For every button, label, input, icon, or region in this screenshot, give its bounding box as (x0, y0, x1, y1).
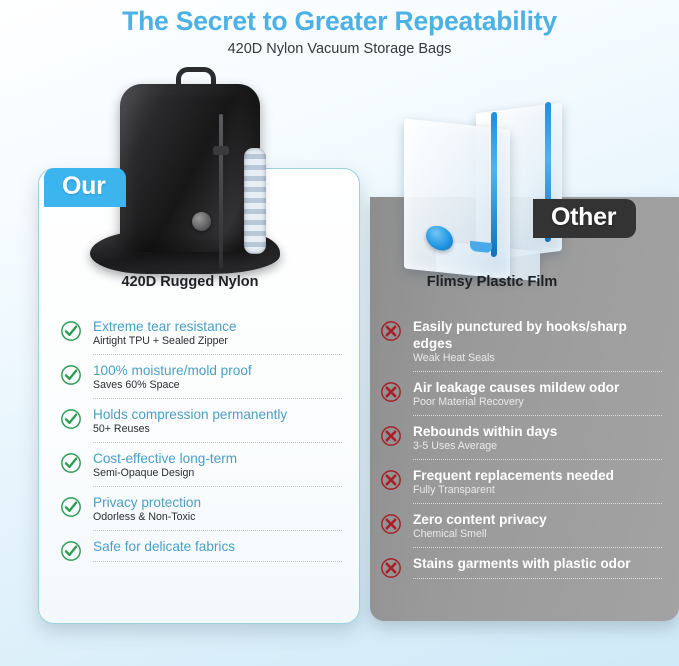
feature-sub-text: Semi-Opaque Design (93, 467, 342, 480)
divider (93, 530, 342, 531)
feature-main-text: Easily punctured by hooks/sharp edges (413, 318, 662, 352)
feature-sub-text: Saves 60% Space (93, 379, 342, 392)
feature-sub-text: Poor Material Recovery (413, 396, 662, 409)
page-subtitle: 420D Nylon Vacuum Storage Bags (0, 39, 679, 59)
our-feature-list: Extreme tear resistance Airtight TPU + S… (60, 318, 342, 578)
check-circle-icon (60, 320, 82, 342)
bag-valve-icon (192, 212, 211, 231)
list-item: Frequent replacements needed Fully Trans… (380, 467, 662, 504)
bag-window-panel (244, 148, 266, 254)
divider (93, 398, 342, 399)
feature-sub-text: Weak Heat Seals (413, 352, 662, 365)
check-circle-icon (60, 540, 82, 562)
x-circle-icon (380, 381, 402, 403)
plastic-bag-image (398, 96, 588, 281)
check-circle-icon (60, 364, 82, 386)
x-circle-icon (380, 425, 402, 447)
bag-zipper-pull-icon (213, 146, 229, 155)
feature-main-text: Frequent replacements needed (413, 467, 662, 484)
feature-main-text: Privacy protection (93, 494, 342, 511)
header: The Secret to Greater Repeatability 420D… (0, 0, 679, 59)
divider (413, 415, 662, 416)
feature-main-text: Stains garments with plastic odor (413, 555, 662, 572)
list-item: Air leakage causes mildew odor Poor Mate… (380, 379, 662, 416)
check-circle-icon (60, 496, 82, 518)
x-circle-icon (380, 469, 402, 491)
plastic-zipper-icon-1 (491, 112, 497, 258)
divider (93, 354, 342, 355)
list-item: Easily punctured by hooks/sharp edges We… (380, 318, 662, 372)
feature-sub-text: 50+ Reuses (93, 423, 342, 436)
feature-sub-text: Airtight TPU + Sealed Zipper (93, 335, 342, 348)
list-item: Holds compression permanently 50+ Reuses (60, 406, 342, 443)
divider (413, 371, 662, 372)
divider (93, 486, 342, 487)
divider (413, 547, 662, 548)
list-item: Extreme tear resistance Airtight TPU + S… (60, 318, 342, 355)
feature-sub-text: Odorless & Non-Toxic (93, 511, 342, 524)
feature-main-text: Cost-effective long-term (93, 450, 342, 467)
list-item: 100% moisture/mold proof Saves 60% Space (60, 362, 342, 399)
feature-main-text: 100% moisture/mold proof (93, 362, 342, 379)
other-product-caption: Flimsy Plastic Film (362, 274, 622, 290)
list-item: Cost-effective long-term Semi-Opaque Des… (60, 450, 342, 487)
feature-main-text: Holds compression permanently (93, 406, 342, 423)
other-feature-list: Easily punctured by hooks/sharp edges We… (380, 318, 662, 595)
list-item: Zero content privacy Chemical Smell (380, 511, 662, 548)
feature-sub-text: Fully Transparent (413, 484, 662, 497)
bag-body-shape (120, 84, 260, 252)
our-product-caption: 420D Rugged Nylon (60, 274, 320, 290)
feature-sub-text: 3-5 Uses Average (413, 440, 662, 453)
page-title: The Secret to Greater Repeatability (0, 4, 679, 38)
list-item: Privacy protection Odorless & Non-Toxic (60, 494, 342, 531)
feature-sub-text: Chemical Smell (413, 528, 662, 541)
plastic-valve-icon (426, 223, 453, 253)
feature-main-text: Extreme tear resistance (93, 318, 342, 335)
list-item: Rebounds within days 3-5 Uses Average (380, 423, 662, 460)
list-item: Stains garments with plastic odor (380, 555, 662, 595)
feature-main-text: Safe for delicate fabrics (93, 538, 342, 555)
list-item: Safe for delicate fabrics (60, 538, 342, 578)
x-circle-icon (380, 513, 402, 535)
other-badge: Other (533, 199, 636, 238)
bag-zipper-icon (219, 114, 223, 269)
divider (413, 459, 662, 460)
feature-main-text: Air leakage causes mildew odor (413, 379, 662, 396)
divider (413, 578, 662, 579)
our-badge: Our (44, 168, 126, 207)
x-circle-icon (380, 320, 402, 342)
divider (93, 561, 342, 562)
feature-main-text: Zero content privacy (413, 511, 662, 528)
check-circle-icon (60, 452, 82, 474)
divider (413, 503, 662, 504)
x-circle-icon (380, 557, 402, 579)
divider (93, 442, 342, 443)
feature-main-text: Rebounds within days (413, 423, 662, 440)
check-circle-icon (60, 408, 82, 430)
